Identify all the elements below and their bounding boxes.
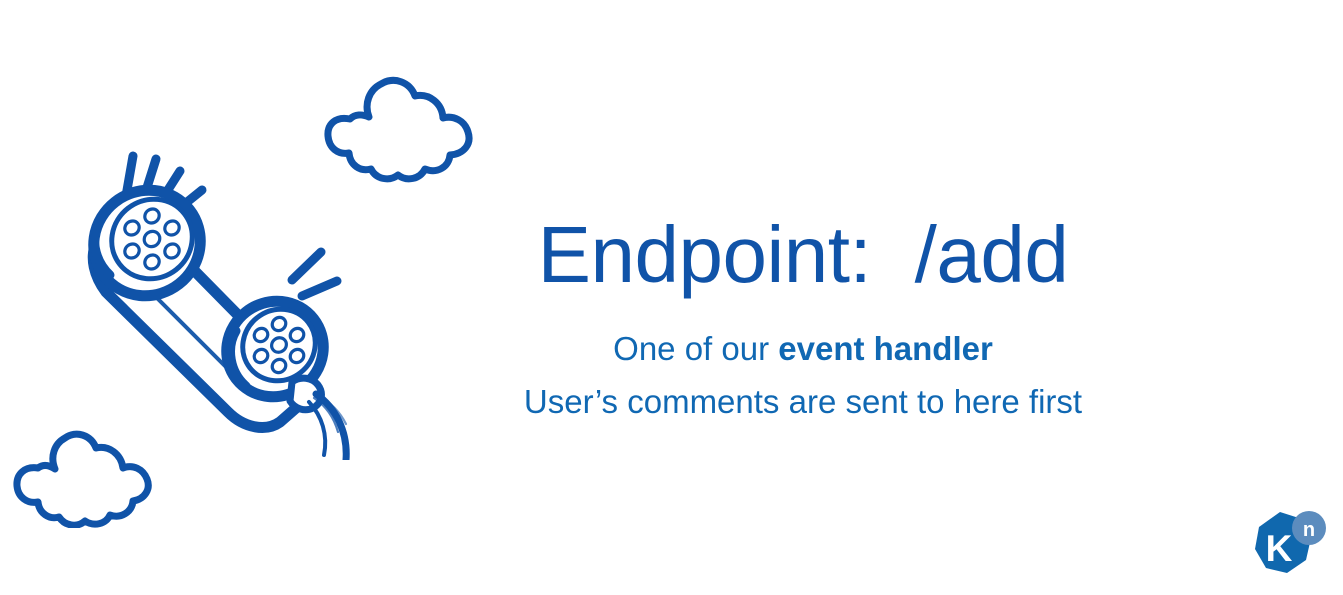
logo-letter-n: n (1303, 519, 1315, 541)
brand-logo[interactable]: K n (1249, 508, 1327, 582)
logo-letter-k: K (1266, 528, 1293, 569)
subtitle-group: One of our event handler User’s comments… (470, 322, 1136, 429)
subtitle-line-2: User’s comments are sent to here first (470, 375, 1136, 428)
subtitle-line-1-prefix: One of our (613, 330, 778, 367)
subtitle-line-1-emphasis: event handler (778, 330, 993, 367)
page-title: Endpoint: /add (470, 214, 1136, 296)
subtitle-line-1: One of our event handler (470, 322, 1136, 375)
slide-text-block: Endpoint: /add One of our event handler … (470, 214, 1136, 429)
cloud-outline-icon (316, 66, 480, 184)
subtitle-line-2-prefix: User’s comments are sent to here first (524, 383, 1082, 420)
slide-canvas: Endpoint: /add One of our event handler … (0, 0, 1343, 595)
cloud-outline-icon (8, 424, 154, 528)
ringing-telephone-handset-icon (60, 140, 370, 460)
